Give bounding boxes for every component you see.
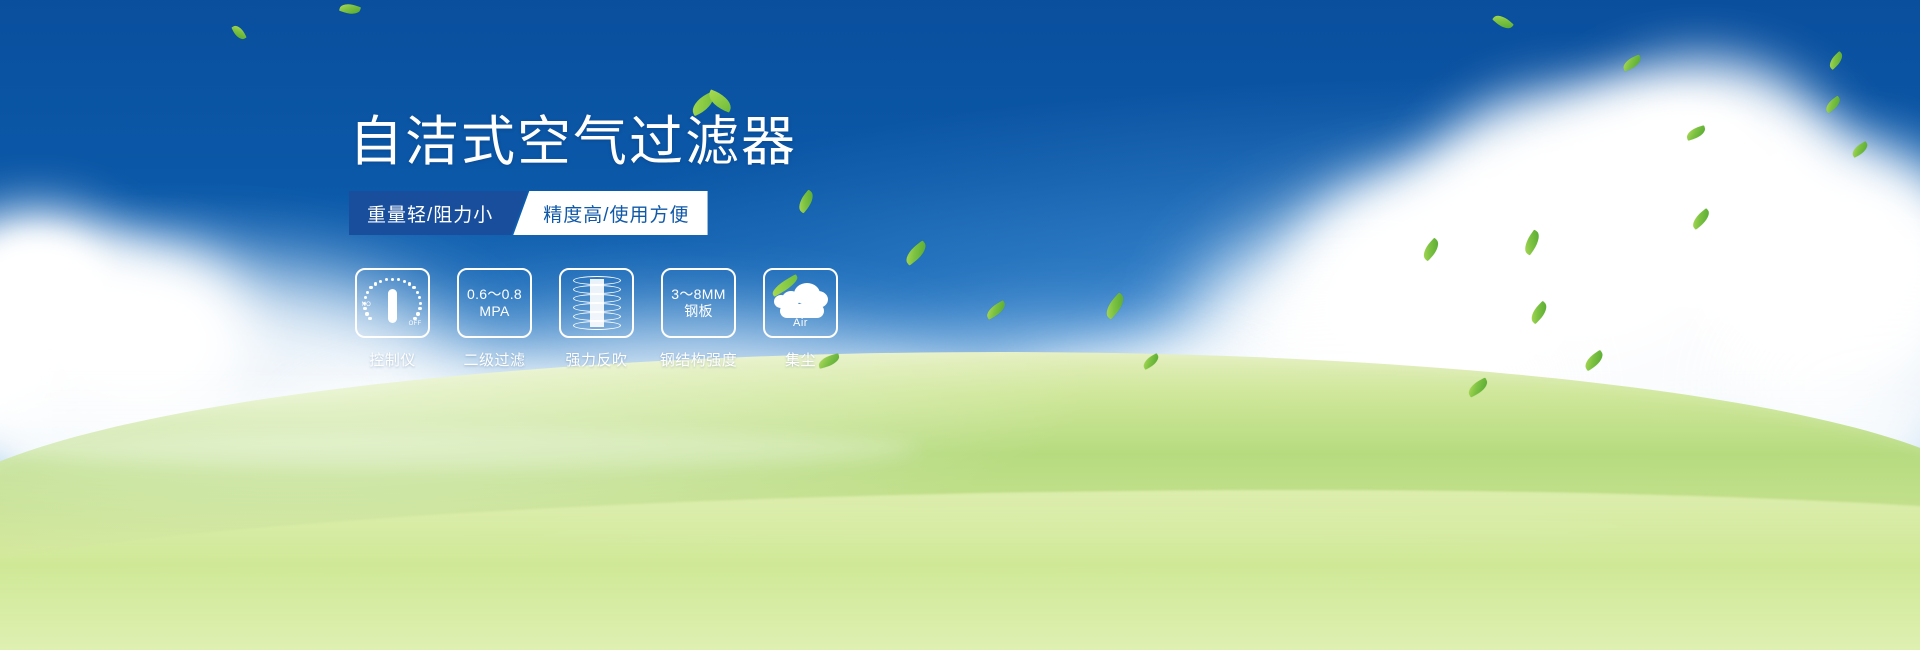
gauge-label-no: NO (362, 302, 372, 308)
feature-backblow-caption: 强力反吹 (565, 349, 627, 370)
title-wrap: 自洁式空气过滤器 (349, 112, 797, 172)
pressure-value-line2: MPA (479, 303, 509, 320)
feature-backblow: 强力反吹 (559, 268, 634, 370)
gauge-icon: NO OFF (363, 277, 423, 329)
feature-dust-box: Air (763, 268, 838, 338)
tag-weight-resistance: 重量轻/阻力小 (349, 191, 527, 235)
promo-banner: 自洁式空气过滤器 重量轻/阻力小 精度高/使用方便 (0, 0, 1920, 650)
page-title: 自洁式空气过滤器 (349, 112, 797, 172)
feature-controller: NO OFF 控制仪 (355, 268, 430, 370)
feature-tag-row: 重量轻/阻力小 精度高/使用方便 (349, 191, 708, 235)
feature-dust-caption: 集尘 (785, 349, 816, 370)
feature-icon-row: NO OFF 控制仪 0.6～0.8 MPA 二级过滤 (355, 268, 838, 370)
gauge-label-off: OFF (409, 321, 422, 327)
air-label: Air (772, 317, 830, 329)
gauge-needle-icon (388, 289, 397, 323)
feature-backblow-box (559, 268, 634, 338)
feature-steel-caption: 钢结构强度 (660, 349, 738, 370)
pressure-value-line1: 0.6～0.8 (467, 286, 522, 303)
feature-controller-box: NO OFF (355, 268, 430, 338)
feature-pressure-caption: 二级过滤 (463, 349, 525, 370)
leaf-sprout-icon (690, 88, 736, 118)
filter-cartridge-icon (573, 276, 621, 330)
feature-steel-box: 3～8MM 钢板 (661, 268, 736, 338)
banner-content: 自洁式空气过滤器 (349, 112, 869, 172)
steel-value-line2: 钢板 (684, 303, 713, 320)
feature-pressure-box: 0.6～0.8 MPA (457, 268, 532, 338)
steel-value-line1: 3～8MM (671, 286, 725, 303)
air-cloud-icon: Air (772, 279, 830, 327)
feature-dust: Air 集尘 (763, 268, 838, 370)
tag-precision-convenience: 精度高/使用方便 (513, 191, 707, 235)
feature-steel: 3～8MM 钢板 钢结构强度 (661, 268, 736, 370)
feature-pressure: 0.6～0.8 MPA 二级过滤 (457, 268, 532, 370)
feature-controller-caption: 控制仪 (369, 349, 416, 370)
